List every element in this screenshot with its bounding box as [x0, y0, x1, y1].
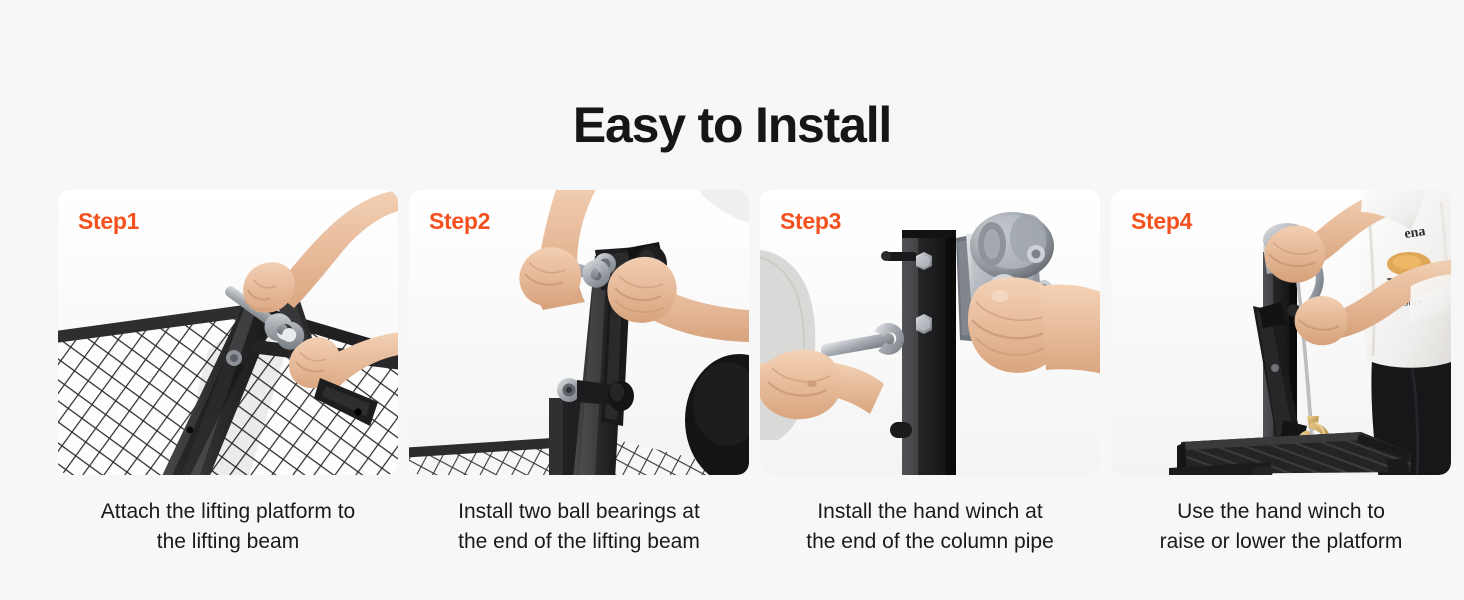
- step-1-caption-line2: the lifting beam: [62, 527, 394, 557]
- step-2-caption: Install two ball bearings at the end of …: [409, 497, 749, 557]
- step-4-caption-line1: Use the hand winch to: [1177, 500, 1385, 523]
- step-4-badge: Step4: [1131, 208, 1192, 234]
- step-card-1: Step1 Attach the lifting platform to the…: [58, 190, 398, 557]
- step-3-caption: Install the hand winch at the end of the…: [760, 497, 1100, 557]
- steps-row: Step1 Attach the lifting platform to the…: [58, 190, 1406, 557]
- promo-banner: Easy to Install: [0, 0, 1464, 600]
- step-4-caption: Use the hand winch to raise or lower the…: [1111, 497, 1451, 557]
- step-card-3: Step3 Install the hand winch at the end …: [760, 190, 1100, 557]
- step-1-image-card: Step1: [58, 190, 398, 475]
- step-card-4: ena ream oom: [1111, 190, 1451, 557]
- step-1-caption-line1: Attach the lifting platform to: [101, 500, 355, 523]
- step-2-caption-line2: the end of the lifting beam: [413, 527, 745, 557]
- step-4-image-card: ena ream oom: [1111, 190, 1451, 475]
- step-3-image-card: Step3: [760, 190, 1100, 475]
- step-2-badge: Step2: [429, 208, 490, 234]
- step-2-caption-line1: Install two ball bearings at: [458, 500, 700, 523]
- step-1-caption: Attach the lifting platform to the lifti…: [58, 497, 398, 557]
- step-4-caption-line2: raise or lower the platform: [1115, 527, 1447, 557]
- step-3-caption-line2: the end of the column pipe: [764, 527, 1096, 557]
- step-card-2: Step2 Install two ball bearings at the e…: [409, 190, 749, 557]
- page-title: Easy to Install: [0, 96, 1464, 154]
- step-2-image-card: Step2: [409, 190, 749, 475]
- step-1-badge: Step1: [78, 208, 139, 234]
- step-3-caption-line1: Install the hand winch at: [817, 500, 1042, 523]
- step-3-badge: Step3: [780, 208, 841, 234]
